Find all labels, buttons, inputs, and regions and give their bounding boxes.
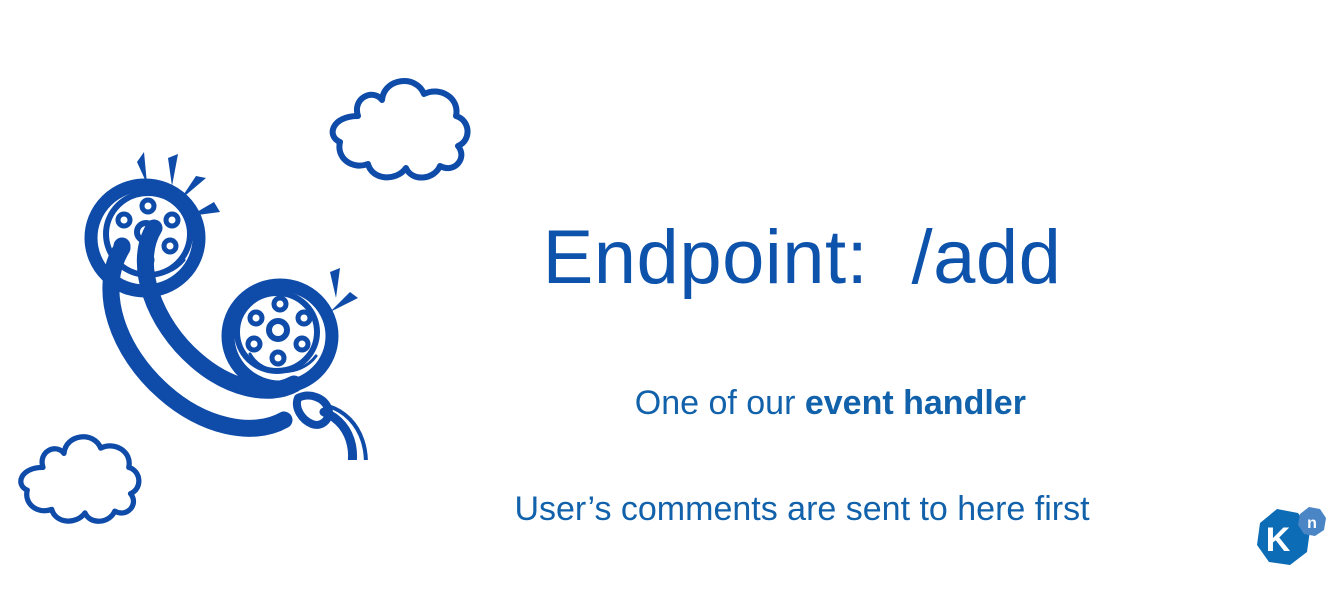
- subtitle-line-1-prefix: One of our: [635, 384, 805, 422]
- logo-letter-n: n: [1307, 515, 1317, 532]
- logo-letter-k: K: [1266, 521, 1291, 559]
- page-title: Endpoint: /add: [462, 218, 1142, 299]
- slide-canvas: Endpoint: /add One of our event handler …: [0, 0, 1343, 595]
- subtitle-line-1-emphasis: event handler: [805, 384, 1026, 422]
- slide-text-block: Endpoint: /add One of our event handler …: [462, 218, 1142, 535]
- ringing-telephone-handset-icon: [62, 140, 372, 460]
- brand-logo: K n: [1246, 505, 1330, 583]
- subtitle-line-1: One of our event handler: [462, 325, 1142, 483]
- subtitle-line-2: User’s comments are sent to here first: [462, 483, 1142, 536]
